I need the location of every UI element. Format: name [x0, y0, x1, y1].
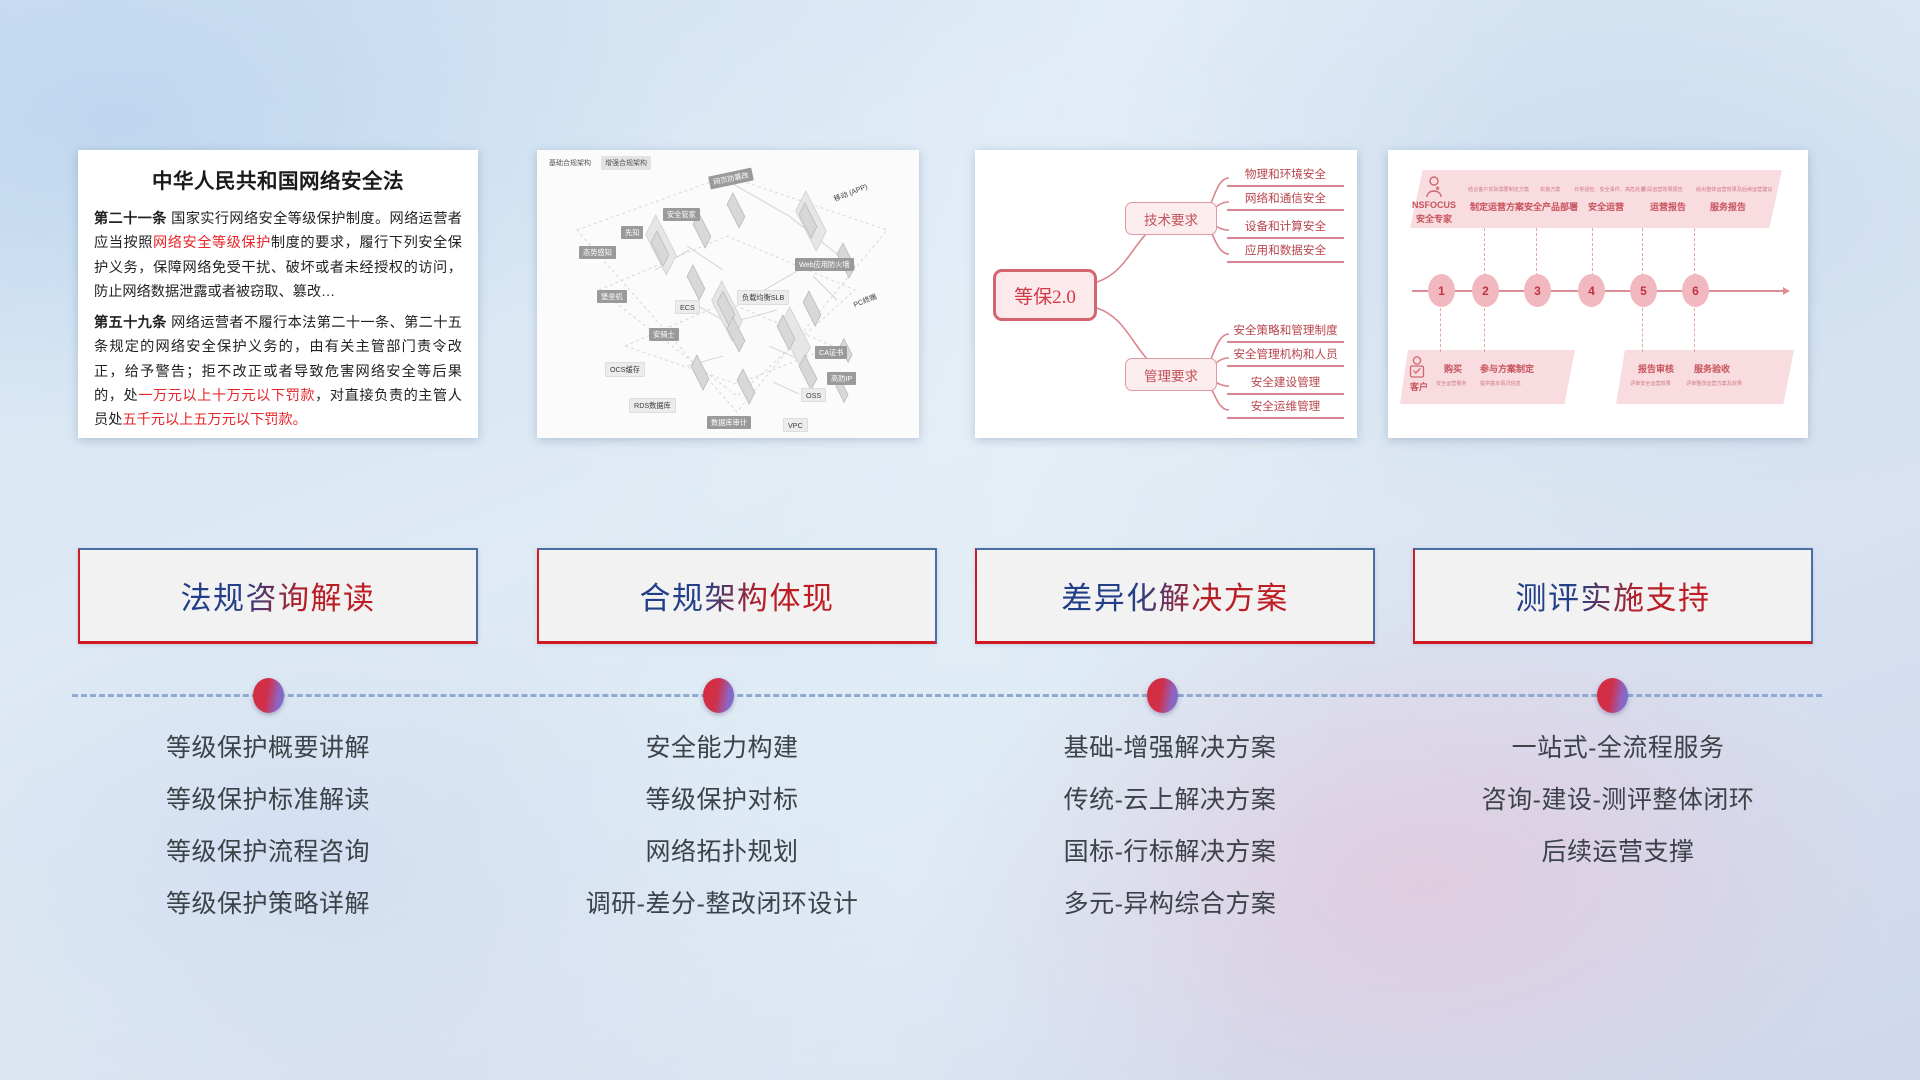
list-item: 等级保护对标	[512, 788, 932, 813]
list-item: 等级保护标准解读	[58, 788, 478, 813]
leader-line-4	[1592, 228, 1593, 276]
top-step-5-sub: 给出整体运营效果及后续运营建议	[1696, 186, 1772, 193]
node-label-vpc: VPC	[783, 418, 808, 432]
top-step-1-sub: 结合客户实际需要制定方案	[1468, 186, 1529, 193]
top-step-4-sub: 阶段运营效果报告	[1642, 186, 1683, 193]
bottom-lists-row: 等级保护概要讲解 等级保护标准解读 等级保护流程咨询 等级保护策略详解 安全能力…	[0, 736, 1920, 986]
node-label-waf: Web应用防火墙	[795, 258, 854, 271]
bottom-step-1-title: 购买	[1444, 362, 1462, 375]
mindmap-diagram: 等保2.0 技术要求 物理和环境安全 网络和通信安全 设备和计算安全 应用和数据…	[975, 150, 1357, 438]
top-step-2-title: 安全产品部署	[1524, 200, 1578, 213]
top-step-4-title: 运营报告	[1650, 200, 1686, 213]
card-mindmap-dengbao[interactable]: 等保2.0 技术要求 物理和环境安全 网络和通信安全 设备和计算安全 应用和数据…	[975, 150, 1357, 438]
list-item: 后续运营支撑	[1408, 840, 1828, 865]
bottom-step-2-sub: 提供基本情况信息	[1480, 380, 1521, 387]
bottom-step-3-sub: 评审安全运营效果	[1630, 380, 1671, 387]
title-box-2-label: 合规架构体现	[640, 573, 835, 618]
list-column-3: 基础-增强解决方案 传统-云上解决方案 国标-行标解决方案 多元-异构综合方案	[960, 736, 1380, 944]
node-label-ecs: ECS	[675, 300, 700, 314]
node-label-security-butler: 安全管家	[663, 208, 700, 221]
list-item: 调研-差分-整改闭环设计	[512, 892, 932, 917]
mindmap-leaf-policy-system: 安全策略和管理制度	[1227, 322, 1344, 343]
timeline-marker-3: 3	[1524, 274, 1551, 307]
article-21-highlight: 网络安全等级保护	[153, 235, 271, 251]
architecture-diagram: 基础合规架构 增强合规架构	[537, 150, 919, 438]
leader-line-b3	[1642, 308, 1643, 352]
node-label-situational-awareness: 态势感知	[579, 246, 616, 259]
list-column-1: 等级保护概要讲解 等级保护标准解读 等级保护流程咨询 等级保护策略详解	[58, 736, 478, 944]
node-label-oss: OSS	[801, 388, 826, 402]
bottom-right-band	[1616, 350, 1794, 404]
top-step-2-sub: 实施方案	[1540, 186, 1560, 193]
expert-name-label: NSFOCUS	[1412, 200, 1456, 210]
timeline-marker-5: 5	[1630, 274, 1657, 307]
mindmap-leaf-ops-management: 安全运维管理	[1227, 398, 1344, 419]
card-cloud-architecture[interactable]: 基础合规架构 增强合规架构	[537, 150, 919, 438]
law-article-59: 第五十九条 网络运营者不履行本法第二十一条、第二十五条规定的网络安全保护义务的，…	[94, 311, 462, 433]
customer-icon	[1408, 356, 1426, 378]
list-item: 多元-异构综合方案	[960, 892, 1380, 917]
card-nsfocus-timeline[interactable]: NSFOCUS 安全专家 客户 结合客户实际需要制定方案 制定运营方案 实施方案…	[1388, 150, 1808, 438]
bottom-step-1-sub: 安全运营服务	[1436, 380, 1467, 387]
mindmap-root: 等保2.0	[993, 269, 1097, 321]
timeline-pin-2	[703, 678, 734, 713]
top-step-5-title: 服务报告	[1710, 200, 1746, 213]
node-label-xianzhi: 先知	[621, 226, 643, 239]
card-cybersecurity-law[interactable]: 中华人民共和国网络安全法 第二十一条 国家实行网络安全等级保护制度。网络运营者应…	[78, 150, 478, 438]
top-cards-row: 中华人民共和国网络安全法 第二十一条 国家实行网络安全等级保护制度。网络运营者应…	[0, 150, 1920, 440]
top-step-1-title: 制定运营方案	[1470, 200, 1524, 213]
mindmap-leaf-org-personnel: 安全管理机构和人员	[1227, 346, 1344, 367]
list-item: 等级保护策略详解	[58, 892, 478, 917]
list-item: 一站式-全流程服务	[1408, 736, 1828, 761]
timeline-marker-4: 4	[1578, 274, 1605, 307]
timeline-marker-2: 2	[1472, 274, 1499, 307]
bottom-step-3-title: 报告审核	[1638, 362, 1674, 375]
mindmap-leaf-device-computing: 设备和计算安全	[1227, 218, 1344, 239]
list-column-4: 一站式-全流程服务 咨询-建设-测评整体闭环 后续运营支撑	[1408, 736, 1828, 892]
security-expert-icon	[1424, 176, 1444, 198]
mindmap-branch-management: 管理要求	[1125, 358, 1217, 391]
article-59-label: 第五十九条	[94, 315, 167, 331]
node-label-db-audit: 数据库审计	[707, 416, 751, 429]
timeline-marker-1: 1	[1428, 274, 1455, 307]
expert-role-label: 安全专家	[1416, 212, 1452, 225]
title-box-compliance-architecture[interactable]: 合规架构体现	[537, 548, 937, 644]
title-box-4-label: 测评实施支持	[1516, 573, 1711, 618]
list-column-2: 安全能力构建 等级保护对标 网络拓扑规划 调研-差分-整改闭环设计	[512, 736, 932, 944]
leader-line-b2	[1484, 308, 1485, 352]
mindmap-leaf-application-data: 应用和数据安全	[1227, 242, 1344, 263]
leader-line-b1	[1440, 308, 1441, 352]
list-item: 等级保护流程咨询	[58, 840, 478, 865]
node-label-rds-database: RDS数据库	[629, 398, 676, 413]
node-label-anti-ddos-ip: 高防IP	[827, 372, 856, 385]
timeline-pin-3	[1147, 678, 1178, 713]
title-box-differentiated-solution[interactable]: 差异化解决方案	[975, 548, 1375, 644]
title-box-1-label: 法规咨询解读	[181, 573, 376, 618]
law-title: 中华人民共和国网络安全法	[94, 164, 462, 194]
nsfocus-diagram: NSFOCUS 安全专家 客户 结合客户实际需要制定方案 制定运营方案 实施方案…	[1388, 150, 1808, 438]
node-label-slb: 负载均衡SLB	[737, 290, 789, 305]
mindmap-leaf-physical-environment: 物理和环境安全	[1227, 166, 1344, 187]
leader-line-b4	[1694, 308, 1695, 352]
bottom-step-2-title: 参与方案制定	[1480, 362, 1534, 375]
list-item: 等级保护概要讲解	[58, 736, 478, 761]
top-band	[1410, 170, 1782, 228]
leader-line-6	[1694, 228, 1695, 276]
timeline-pin-4	[1597, 678, 1628, 713]
law-document: 中华人民共和国网络安全法 第二十一条 国家实行网络安全等级保护制度。网络运营者应…	[78, 150, 478, 438]
article-59-highlight-a: 一万元以上十万元以下罚款	[138, 388, 315, 404]
mindmap-leaf-construction-management: 安全建设管理	[1227, 374, 1344, 395]
title-box-3-label: 差异化解决方案	[1061, 573, 1289, 618]
bottom-step-4-title: 服务验收	[1694, 362, 1730, 375]
customer-role-label: 客户	[1410, 380, 1428, 393]
list-item: 基础-增强解决方案	[960, 736, 1380, 761]
leader-line-2	[1484, 228, 1485, 276]
node-label-bastion-host: 堡垒机	[597, 290, 627, 303]
node-label-ca-cert: CA证书	[815, 346, 847, 359]
node-label-ocs-cache: OCS缓存	[605, 362, 645, 377]
timeline-marker-6: 6	[1682, 274, 1709, 307]
list-item: 国标-行标解决方案	[960, 840, 1380, 865]
mindmap-branch-technical: 技术要求	[1125, 202, 1217, 235]
title-boxes-row: 法规咨询解读 合规架构体现 差异化解决方案 测评实施支持	[0, 548, 1920, 648]
top-step-3-title: 安全运营	[1588, 200, 1624, 213]
title-box-regulation-consulting[interactable]: 法规咨询解读	[78, 548, 478, 644]
timeline-pin-1	[253, 678, 284, 713]
article-21-label: 第二十一条	[94, 211, 167, 227]
timeline-rail	[72, 694, 1822, 697]
title-box-assessment-support[interactable]: 测评实施支持	[1413, 548, 1813, 644]
bottom-step-4-sub: 评审整改运营方案及效果	[1686, 380, 1742, 387]
top-step-3-sub: 日常巡检、安全事件、高危处置	[1574, 186, 1645, 193]
list-item: 咨询-建设-测评整体闭环	[1408, 788, 1828, 813]
law-article-21: 第二十一条 国家实行网络安全等级保护制度。网络运营者应当按照网络安全等级保护制度…	[94, 207, 462, 305]
node-label-anqishi: 安骑士	[649, 328, 679, 341]
list-item: 网络拓扑规划	[512, 840, 932, 865]
list-item: 安全能力构建	[512, 736, 932, 761]
leader-line-3	[1536, 228, 1537, 276]
leader-line-5	[1642, 228, 1643, 276]
bottom-left-band	[1400, 350, 1575, 404]
list-item: 传统-云上解决方案	[960, 788, 1380, 813]
mindmap-leaf-network-communication: 网络和通信安全	[1227, 190, 1344, 211]
article-59-highlight-b: 五千元以上五万元以下罚款。	[122, 412, 306, 428]
